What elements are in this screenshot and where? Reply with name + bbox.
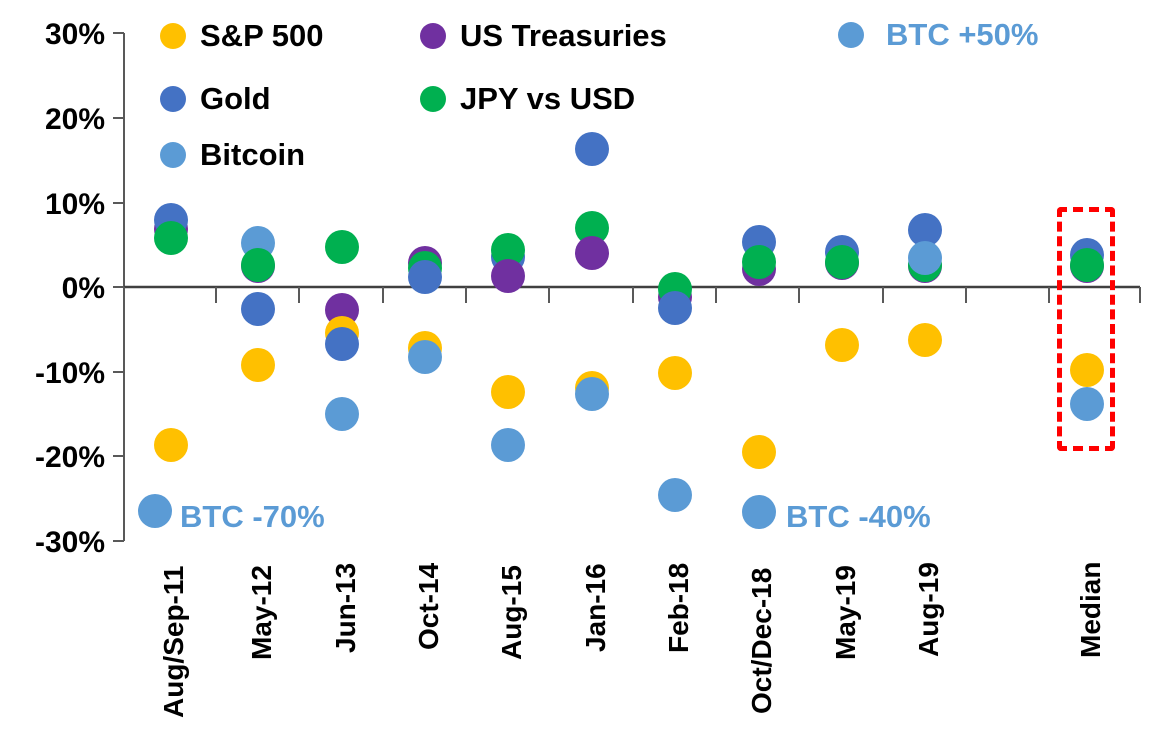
legend-label-us-treasuries: US Treasuries bbox=[460, 20, 667, 51]
point-jpy-10 bbox=[1070, 248, 1104, 282]
point-treasuries-5 bbox=[575, 236, 609, 270]
point-bitcoin-3 bbox=[408, 340, 442, 374]
point-sp500-6 bbox=[658, 356, 692, 390]
point-jpy-2 bbox=[325, 230, 359, 264]
point-sp500-7 bbox=[742, 435, 776, 469]
x-tick-label-9: Aug-19 bbox=[915, 562, 943, 657]
point-jpy-8 bbox=[825, 245, 859, 279]
legend-item-jpy-vs-usd[interactable]: JPY vs USD bbox=[420, 83, 635, 114]
point-gold-3 bbox=[408, 260, 442, 294]
point-sp500-0 bbox=[154, 428, 188, 462]
point-bitcoin-7 bbox=[742, 495, 776, 529]
legend-label-gold: Gold bbox=[200, 83, 271, 114]
legend-item-sp500[interactable]: S&P 500 bbox=[160, 20, 324, 51]
x-tick-label-7: Oct/Dec-18 bbox=[748, 568, 776, 714]
point-gold-5 bbox=[575, 132, 609, 166]
y-tick-label-30: 30% bbox=[0, 20, 105, 50]
annotation-label-btc-down40: BTC -40% bbox=[786, 501, 931, 532]
point-jpy-1 bbox=[241, 248, 275, 282]
annotation-btc-up: BTC +50% bbox=[838, 19, 1038, 50]
y-tick-label-20: 20% bbox=[0, 105, 105, 135]
annotation-label-btc-up: BTC +50% bbox=[886, 19, 1038, 50]
annotation-label-btc-down70: BTC -70% bbox=[180, 501, 325, 532]
legend-dot-us-treasuries bbox=[420, 23, 446, 49]
point-bitcoin-10 bbox=[1070, 387, 1104, 421]
y-tick-label-10: 10% bbox=[0, 190, 105, 220]
point-sp500-1 bbox=[241, 348, 275, 382]
point-gold-2 bbox=[325, 327, 359, 361]
point-treasuries-4 bbox=[491, 259, 525, 293]
point-gold-6 bbox=[658, 291, 692, 325]
x-tick-label-2: Jun-13 bbox=[332, 563, 360, 653]
point-jpy-7 bbox=[742, 245, 776, 279]
y-tick-label-neg30: -30% bbox=[0, 528, 105, 558]
point-sp500-9 bbox=[908, 323, 942, 357]
point-bitcoin-6 bbox=[658, 478, 692, 512]
legend-label-jpy-vs-usd: JPY vs USD bbox=[460, 83, 635, 114]
point-bitcoin-9 bbox=[908, 241, 942, 275]
x-tick-label-0: Aug/Sep-11 bbox=[160, 566, 188, 718]
annotation-btc-down40: BTC -40% bbox=[786, 501, 931, 532]
legend-item-gold[interactable]: Gold bbox=[160, 83, 271, 114]
point-gold-1 bbox=[241, 292, 275, 326]
x-tick-label-3: Oct-14 bbox=[415, 563, 443, 650]
legend-item-bitcoin[interactable]: Bitcoin bbox=[160, 139, 305, 170]
point-bitcoin-4 bbox=[491, 428, 525, 462]
x-tick-label-6: Feb-18 bbox=[665, 563, 693, 653]
point-bitcoin-2 bbox=[325, 397, 359, 431]
legend-dot-jpy-vs-usd bbox=[420, 86, 446, 112]
point-sp500-10 bbox=[1070, 353, 1104, 387]
scatter-chart: 30% 20% 10% 0% -10% -20% -30% S&P 500 Go… bbox=[0, 0, 1151, 739]
annotation-btc-down70: BTC -70% bbox=[180, 501, 325, 532]
legend-label-bitcoin: Bitcoin bbox=[200, 139, 305, 170]
legend-label-sp500: S&P 500 bbox=[200, 20, 324, 51]
y-tick-label-0: 0% bbox=[0, 274, 105, 304]
point-bitcoin-5 bbox=[575, 377, 609, 411]
x-tick-label-4: Aug-15 bbox=[498, 565, 526, 660]
x-tick-label-10: Median bbox=[1077, 562, 1105, 658]
legend-dot-sp500 bbox=[160, 23, 186, 49]
y-tick-label-neg20: -20% bbox=[0, 443, 105, 473]
y-tick-label-neg10: -10% bbox=[0, 359, 105, 389]
point-bitcoin-0 bbox=[138, 494, 172, 528]
legend-item-us-treasuries[interactable]: US Treasuries bbox=[420, 20, 667, 51]
point-sp500-4 bbox=[491, 375, 525, 409]
x-tick-label-8: May-19 bbox=[832, 565, 860, 660]
annotation-dot-btc-up bbox=[838, 22, 864, 48]
legend-dot-gold bbox=[160, 86, 186, 112]
point-jpy-0 bbox=[154, 221, 188, 255]
point-sp500-8 bbox=[825, 328, 859, 362]
x-tick-label-5: Jan-16 bbox=[582, 563, 610, 652]
legend-dot-bitcoin bbox=[160, 142, 186, 168]
x-tick-label-1: May-12 bbox=[248, 565, 276, 660]
